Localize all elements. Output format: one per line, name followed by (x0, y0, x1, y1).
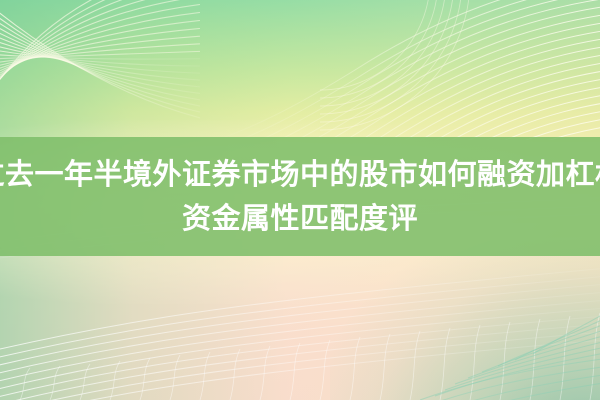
arc-lines-top-left (0, 0, 268, 148)
decorative-banner: 过去一年半境外证券市场中的股市如何融资加杠杆 资金属性匹配度评 (0, 0, 600, 400)
title-line-2: 资金属性匹配度评 (182, 197, 418, 241)
title-line-1: 过去一年半境外证券市场中的股市如何融资加杠杆 (0, 153, 600, 197)
ripple-texture-bottom (20, 313, 600, 400)
title-band: 过去一年半境外证券市场中的股市如何融资加杠杆 资金属性匹配度评 (0, 137, 600, 256)
teal-wave-lines-bottom-right (420, 310, 600, 400)
wave-lines-bottom (0, 266, 600, 400)
